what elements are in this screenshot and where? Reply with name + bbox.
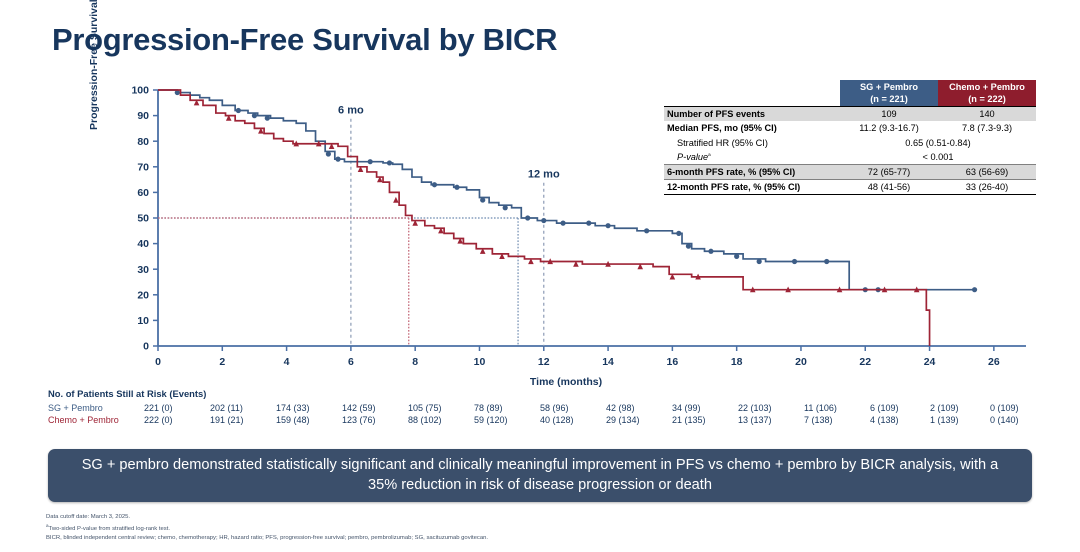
x-tick-label: 4: [284, 356, 290, 368]
risk-cell: 29 (134): [606, 414, 672, 426]
x-tick-label: 24: [924, 356, 936, 368]
y-tick-label: 90: [137, 110, 149, 122]
risk-cell: 159 (48): [276, 414, 342, 426]
y-tick-label: 10: [137, 315, 149, 327]
y-tick-label: 80: [137, 136, 149, 148]
risk-cell: 34 (99): [672, 402, 738, 414]
footnotes: Data cutoff date: March 3, 2025. aTwo-si…: [46, 513, 488, 543]
risk-row-sg: SG + Pembro221 (0)202 (11)174 (33)142 (5…: [48, 402, 1038, 414]
risk-cell: 0 (140): [990, 414, 1038, 426]
risk-cell: 88 (102): [408, 414, 474, 426]
annotation-label-1: 12 mo: [528, 169, 560, 181]
x-tick-label: 12: [538, 356, 550, 368]
censor-mark-sg-22: [757, 259, 762, 264]
x-tick-label: 26: [988, 356, 1000, 368]
risk-cell: 222 (0): [144, 414, 210, 426]
km-plot-svg: 0102030405060708090100024681012141618202…: [96, 84, 1036, 384]
censor-mark-sg-7: [387, 160, 392, 165]
risk-cell: 191 (21): [210, 414, 276, 426]
censor-mark-sg-21: [734, 254, 739, 259]
y-tick-label: 30: [137, 264, 149, 276]
risk-cell: 4 (138): [870, 414, 930, 426]
risk-table-grid: SG + Pembro221 (0)202 (11)174 (33)142 (5…: [48, 402, 1038, 426]
censor-mark-sg-11: [503, 205, 508, 210]
x-axis-label: Time (months): [96, 376, 1036, 388]
risk-cell: 58 (96): [540, 402, 606, 414]
km-curve-sg: [158, 90, 975, 290]
y-axis-label: Progression-Free Survival Probability (%…: [88, 0, 100, 130]
x-tick-label: 16: [667, 356, 679, 368]
risk-cell: 221 (0): [144, 402, 210, 414]
censor-mark-sg-27: [972, 287, 977, 292]
y-tick-label: 40: [137, 238, 149, 250]
footnote-line1: Data cutoff date: March 3, 2025.: [46, 513, 488, 522]
slide-root: Progression-Free Survival by BICR SG + P…: [0, 0, 1080, 552]
censor-mark-sg-3: [265, 116, 270, 121]
censor-mark-sg-1: [236, 108, 241, 113]
x-tick-label: 22: [859, 356, 871, 368]
censor-mark-sg-6: [368, 159, 373, 164]
risk-cell: 202 (11): [210, 402, 276, 414]
censor-mark-sg-15: [586, 221, 591, 226]
footnote-line2: aTwo-sided P-value from stratified log-r…: [46, 522, 488, 534]
risk-row-label: SG + Pembro: [48, 402, 144, 414]
risk-row-label: Chemo + Pembro: [48, 414, 144, 426]
censor-mark-sg-16: [605, 223, 610, 228]
x-tick-label: 18: [731, 356, 743, 368]
y-tick-label: 70: [137, 161, 149, 173]
footnote-line3: BICR, blinded independent central review…: [46, 534, 488, 543]
x-tick-label: 6: [348, 356, 354, 368]
censor-mark-sg-12: [525, 215, 530, 220]
risk-cell: 2 (109): [930, 402, 990, 414]
censor-mark-sg-18: [676, 231, 681, 236]
censor-mark-sg-14: [560, 221, 565, 226]
censor-mark-sg-20: [708, 249, 713, 254]
risk-table: No. of Patients Still at Risk (Events) S…: [48, 388, 1038, 426]
risk-cell: 11 (106): [804, 402, 870, 414]
censor-mark-sg-23: [792, 259, 797, 264]
risk-cell: 22 (103): [738, 402, 804, 414]
x-tick-label: 2: [219, 356, 225, 368]
x-tick-label: 10: [474, 356, 486, 368]
censor-mark-chemo-8: [393, 197, 399, 203]
censor-mark-sg-19: [686, 244, 691, 249]
censor-mark-sg-9: [454, 185, 459, 190]
risk-cell: 105 (75): [408, 402, 474, 414]
risk-cell: 0 (109): [990, 402, 1038, 414]
censor-mark-sg-8: [432, 182, 437, 187]
censor-mark-sg-2: [252, 113, 257, 118]
km-chart: Progression-Free Survival Probability (%…: [96, 84, 1036, 384]
risk-cell: 13 (137): [738, 414, 804, 426]
x-tick-label: 20: [795, 356, 807, 368]
conclusion-line1: SG + pembro demonstrated statistically s…: [82, 457, 723, 473]
censor-mark-sg-13: [541, 218, 546, 223]
y-tick-label: 20: [137, 289, 149, 301]
page-title: Progression-Free Survival by BICR: [52, 22, 557, 58]
risk-cell: 42 (98): [606, 402, 672, 414]
y-tick-label: 100: [131, 85, 149, 97]
risk-cell: 123 (76): [342, 414, 408, 426]
risk-cell: 7 (138): [804, 414, 870, 426]
censor-mark-sg-10: [480, 197, 485, 202]
risk-row-chemo: Chemo + Pembro222 (0)191 (21)159 (48)123…: [48, 414, 1038, 426]
y-tick-label: 0: [143, 341, 149, 353]
risk-cell: 78 (89): [474, 402, 540, 414]
x-tick-label: 8: [412, 356, 418, 368]
risk-cell: 6 (109): [870, 402, 930, 414]
annotation-label-0: 6 mo: [338, 105, 364, 117]
censor-mark-sg-4: [326, 151, 331, 156]
x-tick-label: 0: [155, 356, 161, 368]
y-tick-label: 60: [137, 187, 149, 199]
footnote-line2-text: Two-sided P-value from stratified log-ra…: [49, 526, 170, 532]
risk-cell: 142 (59): [342, 402, 408, 414]
conclusion-banner: SG + pembro demonstrated statistically s…: [48, 449, 1032, 502]
censor-mark-sg-24: [824, 259, 829, 264]
risk-cell: 59 (120): [474, 414, 540, 426]
conclusion-text: SG + pembro demonstrated statistically s…: [75, 456, 1005, 495]
risk-cell: 1 (139): [930, 414, 990, 426]
risk-cell: 21 (135): [672, 414, 738, 426]
censor-mark-sg-17: [644, 228, 649, 233]
risk-table-title: No. of Patients Still at Risk (Events): [48, 388, 1038, 399]
risk-cell: 174 (33): [276, 402, 342, 414]
censor-mark-sg-5: [335, 157, 340, 162]
x-tick-label: 14: [602, 356, 614, 368]
risk-cell: 40 (128): [540, 414, 606, 426]
y-tick-label: 50: [137, 213, 149, 225]
